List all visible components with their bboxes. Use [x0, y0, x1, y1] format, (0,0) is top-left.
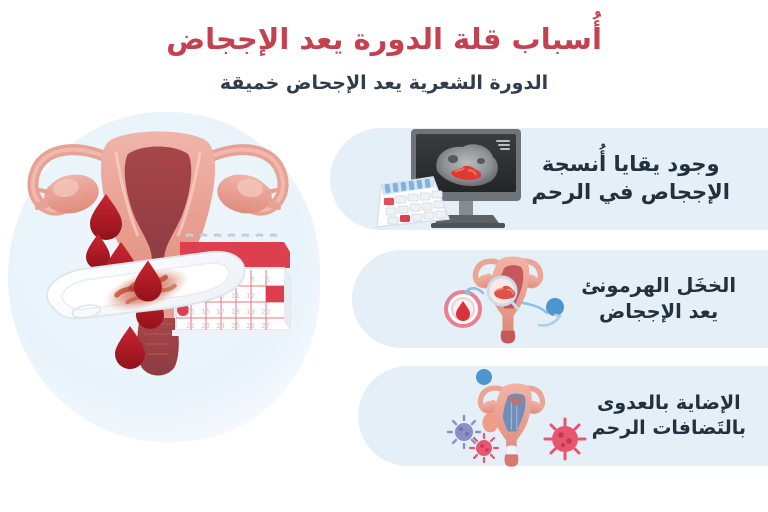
svg-text:22: 22: [186, 322, 195, 330]
card-hormonal-imbalance-line-2: يعد الإججاض: [581, 299, 736, 325]
germ-purple: [448, 416, 480, 448]
card-infection-inflammation-text: الإضاية بالعدوى بالتَضافات الرحم: [592, 391, 746, 441]
card-retained-tissue-line-1: وجود يقايا أُنسجة: [531, 151, 730, 179]
card-infection-inflammation[interactable]: الإضاية بالعدوى بالتَضافات الرحم: [358, 366, 768, 466]
svg-text:19: 19: [246, 308, 255, 316]
card-infection-inflammation-line-2: بالتَضافات الرحم: [592, 416, 746, 441]
svg-text:18: 18: [231, 308, 240, 316]
svg-text:27: 27: [261, 322, 270, 330]
svg-text:17: 17: [216, 308, 225, 316]
card-hormonal-imbalance-text: الخخَل الهرمونئ يعد الإججاض: [581, 273, 736, 324]
svg-text:6: 6: [266, 276, 271, 284]
germ-pink-large: [545, 419, 585, 459]
page-subtitle: الدورة الشعرية يعد الإجحاض خميقة: [0, 72, 768, 94]
svg-text:25: 25: [231, 322, 240, 330]
card-hormonal-imbalance[interactable]: الخخَل الهرمونئ يعد الإججاض: [352, 250, 768, 348]
card-hormonal-imbalance-line-1: الخخَل الهرمونئ: [581, 273, 736, 299]
infographic-canvas: أُسباب قلة الدورة يعد الإججاض الدورة الش…: [0, 0, 768, 512]
tissue-magnifier: [488, 277, 518, 309]
uterus-small: [480, 384, 542, 467]
card-retained-tissue-line-2: الإججاص في الرحم: [531, 179, 730, 207]
svg-text:16: 16: [201, 308, 210, 316]
uterus-with-germs-icon: [446, 368, 586, 464]
svg-text:20: 20: [261, 308, 270, 316]
germ-pink-small: [470, 434, 498, 462]
card-retained-tissue-text: وجود يقايا أُنسجة الإججاص في الرحم: [531, 151, 730, 206]
hormone-dot: [546, 298, 564, 316]
uterus-hormone-cycle-icon: [443, 251, 571, 347]
svg-text:15: 15: [186, 308, 195, 316]
svg-text:11: 11: [231, 292, 240, 300]
svg-text:12: 12: [246, 292, 255, 300]
ultrasound-monitor-and-calendar-icon: [375, 127, 525, 231]
card-retained-tissue[interactable]: وجود يقايا أُنسجة الإججاص في الرحم: [330, 128, 768, 230]
svg-text:26: 26: [246, 322, 255, 330]
germ-dot-blue: [476, 369, 492, 385]
svg-text:24: 24: [216, 322, 225, 330]
svg-text:5: 5: [251, 276, 255, 284]
page-title: أُسباب قلة الدورة يعد الإججاض: [0, 22, 768, 56]
card-infection-inflammation-line-1: الإضاية بالعدوى: [592, 391, 746, 416]
hormone-drop-badge: [446, 292, 480, 326]
svg-text:23: 23: [201, 322, 210, 330]
uterus-bleeding-calendar-pad-illustration: 123 456 8910 1112 151617 181920 222324 2…: [8, 112, 320, 442]
